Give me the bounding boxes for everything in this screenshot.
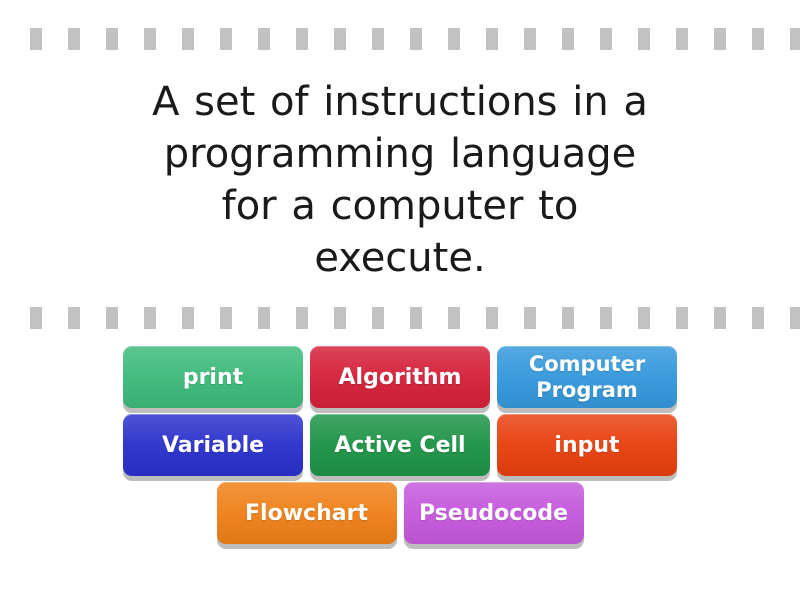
activity-canvas: A set of instructions in a programming l… — [0, 0, 800, 600]
answer-tile-label: Pseudocode — [419, 501, 568, 526]
answer-tile-label: Computer Program — [529, 351, 645, 403]
answer-tile-computer-program[interactable]: Computer Program — [497, 346, 677, 408]
dashed-divider-middle-pattern — [30, 307, 800, 329]
answer-tile-label: Variable — [162, 433, 264, 458]
answer-tiles: print Algorithm Computer Program Variabl… — [0, 346, 800, 550]
answer-tile-label: print — [183, 365, 243, 390]
answer-tile-input[interactable]: input — [497, 414, 677, 476]
dashed-divider-top — [0, 28, 800, 50]
answer-row-2: Variable Active Cell input — [0, 414, 800, 476]
answer-row-1: print Algorithm Computer Program — [0, 346, 800, 408]
answer-tile-label: Active Cell — [334, 433, 465, 458]
prompt-container: A set of instructions in a programming l… — [40, 70, 760, 290]
answer-tile-label: input — [554, 433, 619, 458]
answer-tile-pseudocode[interactable]: Pseudocode — [404, 482, 584, 544]
answer-tile-flowchart[interactable]: Flowchart — [217, 482, 397, 544]
dashed-divider-top-pattern — [30, 28, 800, 50]
dashed-divider-middle — [0, 307, 800, 329]
answer-tile-active-cell[interactable]: Active Cell — [310, 414, 490, 476]
answer-tile-algorithm[interactable]: Algorithm — [310, 346, 490, 408]
answer-tile-print[interactable]: print — [123, 346, 303, 408]
answer-row-3: Flowchart Pseudocode — [0, 482, 800, 544]
answer-tile-label: Algorithm — [339, 365, 462, 390]
prompt-text: A set of instructions in a programming l… — [140, 76, 660, 284]
answer-tile-variable[interactable]: Variable — [123, 414, 303, 476]
answer-tile-label: Flowchart — [245, 501, 368, 526]
